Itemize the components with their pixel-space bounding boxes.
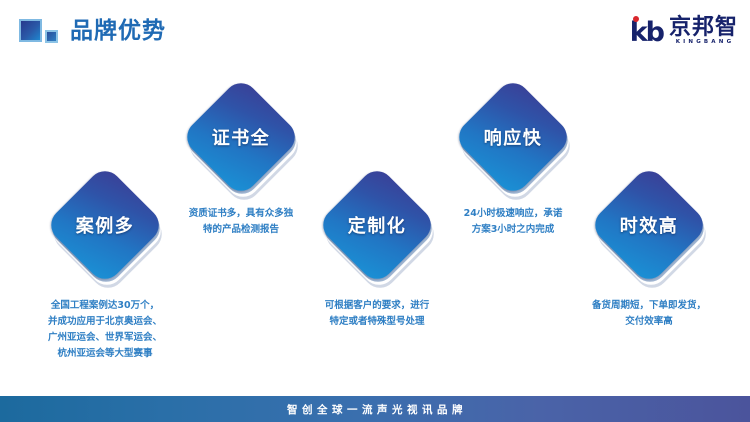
advantage-cards: 案例多 全国工程案例达30万个，并成功应用于北京奥运会、广州亚运会、世界军运会、… — [0, 0, 750, 422]
footer-slogan: 智创全球一流声光视讯品牌 — [283, 402, 467, 417]
advantage-card-description: 全国工程案例达30万个，并成功应用于北京奥运会、广州亚运会、世界军运会、杭州亚运… — [10, 298, 200, 362]
advantage-card-label: 证书全 — [182, 78, 300, 196]
advantage-card-label: 响应快 — [454, 78, 572, 196]
diamond-shape: 证书全 — [182, 78, 300, 196]
advantage-card[interactable]: 时效高 备货周期短，下单即发货，交付效率高 — [590, 166, 708, 284]
advantage-card-description: 可根据客户的要求，进行特定或者特殊型号处理 — [282, 298, 472, 330]
diamond-shape: 时效高 — [590, 166, 708, 284]
advantage-card-description: 资质证书多，具有众多独特的产品检测报告 — [146, 206, 336, 238]
advantage-card[interactable]: 证书全 资质证书多，具有众多独特的产品检测报告 — [182, 78, 300, 196]
advantage-card[interactable]: 响应快 24小时极速响应，承诺方案3小时之内完成 — [454, 78, 572, 196]
page-footer: 智创全球一流声光视讯品牌 — [0, 396, 750, 422]
diamond-shape: 响应快 — [454, 78, 572, 196]
advantage-card-description: 备货周期短，下单即发货，交付效率高 — [554, 298, 744, 330]
advantage-card-description: 24小时极速响应，承诺方案3小时之内完成 — [418, 206, 608, 238]
advantage-card-label: 时效高 — [590, 166, 708, 284]
